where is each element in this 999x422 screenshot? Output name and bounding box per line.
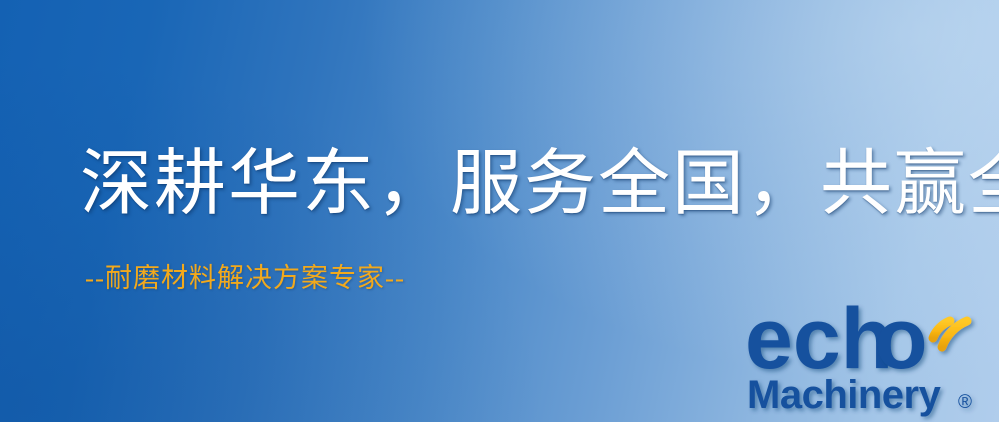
svg-text:®: ® (958, 392, 972, 413)
promo-banner: 深耕华东，服务全国，共赢全球 --耐磨材料解决方案专家-- (0, 0, 999, 422)
logo-tagline: Machinery (747, 373, 942, 417)
registered-trademark-icon: ® (958, 392, 972, 413)
banner-headline: 深耕华东，服务全国，共赢全球 (80, 148, 999, 221)
svg-text:Machinery: Machinery (747, 373, 942, 417)
banner-subtitle: --耐磨材料解决方案专家-- (85, 264, 405, 294)
echo-machinery-logo: ech o Machinery ® (745, 296, 999, 422)
signal-waves-icon (933, 321, 967, 347)
